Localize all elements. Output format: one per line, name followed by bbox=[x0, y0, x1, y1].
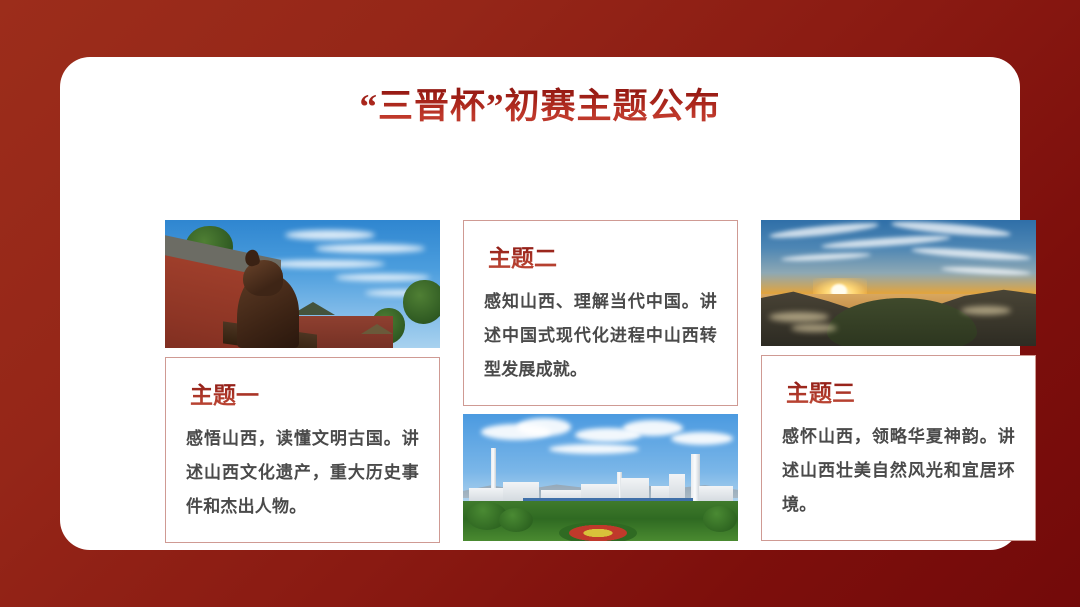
tree-icon bbox=[403, 280, 440, 324]
water-reflection bbox=[769, 312, 829, 322]
theme-card-three-body: 感怀山西，领略华夏神韵。讲述山西壮美自然风光和宜居环境。 bbox=[782, 420, 1015, 522]
pagoda-roof-icon bbox=[361, 324, 393, 334]
industrial-plant-photo bbox=[463, 414, 738, 541]
theme-card-one: 主题一 感悟山西，读懂文明古国。讲述山西文化遗产，重大历史事件和杰出人物。 bbox=[165, 357, 440, 543]
cloud-icon bbox=[623, 420, 683, 436]
cloud-icon bbox=[517, 418, 571, 436]
cloud-icon bbox=[315, 244, 425, 253]
water-reflection bbox=[961, 306, 1011, 315]
cloud-icon bbox=[265, 260, 385, 268]
column-one: 主题一 感悟山西，读懂文明古国。讲述山西文化遗产，重大历史事件和杰出人物。 bbox=[165, 220, 440, 543]
content-panel: “三晋杯”初赛主题公布 bbox=[60, 57, 1020, 550]
tree-icon bbox=[703, 506, 737, 532]
yellow-river-sunset-photo bbox=[761, 220, 1036, 346]
theme-card-three: 主题三 感怀山西，领略华夏神韵。讲述山西壮美自然风光和宜居环境。 bbox=[761, 355, 1036, 541]
theme-card-one-heading: 主题一 bbox=[190, 382, 419, 410]
theme-card-two-body: 感知山西、理解当代中国。讲述中国式现代化进程中山西转型发展成就。 bbox=[484, 285, 717, 387]
cloud-icon bbox=[671, 432, 733, 445]
lion-statue-photo bbox=[165, 220, 440, 348]
column-two: 主题二 感知山西、理解当代中国。讲述中国式现代化进程中山西转型发展成就。 bbox=[463, 220, 738, 541]
spacer bbox=[761, 346, 1036, 355]
flower-bed bbox=[559, 522, 637, 541]
page-title: “三晋杯”初赛主题公布 bbox=[60, 85, 1020, 129]
water-reflection bbox=[791, 324, 837, 332]
theme-card-two-heading: 主题二 bbox=[488, 245, 717, 273]
theme-card-two: 主题二 感知山西、理解当代中国。讲述中国式现代化进程中山西转型发展成就。 bbox=[463, 220, 738, 406]
theme-card-one-body: 感悟山西，读懂文明古国。讲述山西文化遗产，重大历史事件和杰出人物。 bbox=[186, 422, 419, 524]
cloud-icon bbox=[549, 444, 639, 454]
tree-icon bbox=[499, 508, 533, 532]
spacer bbox=[165, 348, 440, 357]
spacer bbox=[463, 406, 738, 414]
cloud-icon bbox=[335, 274, 430, 281]
column-three: 主题三 感怀山西，领略华夏神韵。讲述山西壮美自然风光和宜居环境。 bbox=[761, 220, 1036, 541]
cloud-icon bbox=[285, 230, 375, 240]
slide-canvas: “三晋杯”初赛主题公布 bbox=[0, 0, 1080, 607]
theme-card-three-heading: 主题三 bbox=[786, 380, 1015, 408]
